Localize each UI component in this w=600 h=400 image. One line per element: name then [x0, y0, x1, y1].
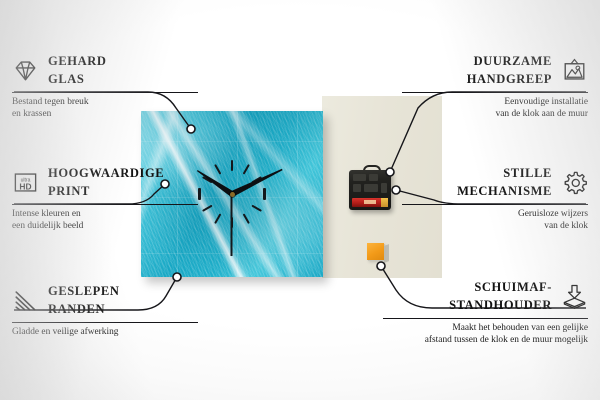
feature-header: GESLEPEN RANDEN: [12, 282, 198, 318]
feature-description: Eenvoudige installatie van de klok aan d…: [402, 97, 588, 120]
connector-dot-left-3: [173, 273, 181, 281]
feature-title-line2: MECHANISME: [457, 184, 552, 198]
feature-title: GEHARD GLAS: [48, 52, 106, 88]
feature-desc-line1: Eenvoudige installatie: [504, 97, 588, 107]
feature-title-line1: GEHARD: [48, 54, 106, 68]
feature-description: Bestand tegen breuk en krassen: [12, 97, 198, 120]
picture-frame-icon: [561, 57, 588, 84]
feature-description: Intense kleuren en een duidelijk beeld: [12, 209, 198, 232]
connector-dot-right-2: [392, 186, 400, 194]
feature-stille-mechanisme[interactable]: STILLE MECHANISME Geruisloze wijzers van…: [402, 164, 588, 232]
feature-desc-line1: Geruisloze wijzers: [518, 209, 588, 219]
feature-title-line2: HANDGREEP: [467, 72, 552, 86]
feature-desc-line1: Maakt het behouden van een gelijke: [452, 323, 588, 333]
ultra-hd-icon: ultra HD: [12, 169, 39, 196]
feature-title-line2: GLAS: [48, 72, 84, 86]
feature-desc-line2: en krassen: [12, 109, 51, 119]
feature-title-line1: GESLEPEN: [48, 284, 120, 298]
feature-rule: [12, 322, 198, 323]
feature-desc-line1: Gladde en veilige afwerking: [12, 327, 118, 337]
feature-gehard-glas[interactable]: GEHARD GLAS Bestand tegen breuk en krass…: [12, 52, 198, 120]
feature-title-line1: STILLE: [503, 166, 552, 180]
feature-desc-line1: Bestand tegen breuk: [12, 97, 89, 107]
feature-hoogwaardige-print[interactable]: ultra HD HOOGWAARDIGE PRINT Intense kleu…: [12, 164, 198, 232]
diamond-icon: [12, 57, 39, 84]
feature-title: GESLEPEN RANDEN: [48, 282, 120, 318]
feature-desc-line2: een duidelijk beeld: [12, 221, 83, 231]
feature-rule: [12, 204, 198, 205]
feature-title-line1: SCHUIMAF-: [474, 280, 552, 294]
feature-rule: [383, 318, 588, 319]
feature-rule: [12, 92, 198, 93]
ultra-hd-icon-bottom: HD: [19, 181, 31, 191]
connector-dot-right-3: [377, 262, 385, 270]
feature-header: SCHUIMAF- STANDHOUDER: [383, 278, 588, 314]
feature-title: SCHUIMAF- STANDHOUDER: [449, 278, 552, 314]
feature-desc-line2: van de klok: [544, 221, 588, 231]
feature-title: DUURZAME HANDGREEP: [467, 52, 552, 88]
gear-icon: [561, 169, 588, 196]
feature-header: ultra HD HOOGWAARDIGE PRINT: [12, 164, 198, 200]
feature-title-line1: DUURZAME: [474, 54, 552, 68]
connector-dot-left-1: [187, 125, 195, 133]
feature-schuimafstandhouder[interactable]: SCHUIMAF- STANDHOUDER Maakt het behouden…: [383, 278, 588, 346]
feature-title: STILLE MECHANISME: [457, 164, 552, 200]
feature-geslepen-randen[interactable]: GESLEPEN RANDEN Gladde en veilige afwerk…: [12, 282, 198, 339]
feature-title-line1: HOOGWAARDIGE: [48, 166, 164, 180]
feature-title: HOOGWAARDIGE PRINT: [48, 164, 164, 200]
feature-description: Geruisloze wijzers van de klok: [402, 209, 588, 232]
feature-title-line2: STANDHOUDER: [449, 298, 552, 312]
feature-rule: [402, 204, 588, 205]
feature-duurzame-handgreep[interactable]: DUURZAME HANDGREEP Eenvoudige installati…: [402, 52, 588, 120]
feature-rule: [402, 92, 588, 93]
feature-header: STILLE MECHANISME: [402, 164, 588, 200]
feature-header: DUURZAME HANDGREEP: [402, 52, 588, 88]
feature-desc-line1: Intense kleuren en: [12, 209, 81, 219]
feature-header: GEHARD GLAS: [12, 52, 198, 88]
feature-title-line2: PRINT: [48, 184, 90, 198]
feature-title-line2: RANDEN: [48, 302, 105, 316]
feature-description: Maakt het behouden van een gelijke afsta…: [383, 323, 588, 346]
feature-desc-line2: van de klok aan de muur: [496, 109, 588, 119]
product-infographic: GEHARD GLAS Bestand tegen breuk en krass…: [0, 0, 600, 400]
feature-desc-line2: afstand tussen de klok en de muur mogeli…: [425, 335, 588, 345]
beveled-edge-icon: [12, 287, 39, 314]
feature-description: Gladde en veilige afwerking: [12, 327, 198, 339]
spacer-press-icon: [561, 283, 588, 310]
connector-dot-right-1: [386, 168, 394, 176]
